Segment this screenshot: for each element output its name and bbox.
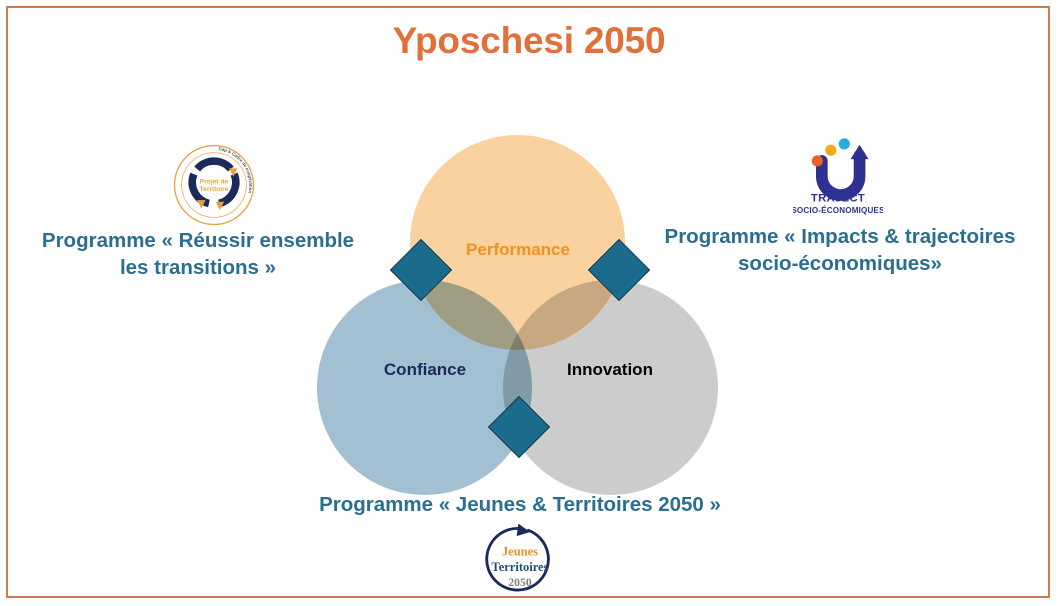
jeunes-territoires-2050-logo: Jeunes Territoires 2050 Jeunes Territoir… [478,522,562,602]
venn-circle-confiance [317,280,532,495]
programme-label-left: Programme « Réussir ensemble les transit… [8,228,388,281]
svg-text:2050: 2050 [508,576,531,589]
venn-circle-innovation [503,280,718,495]
programme-label-right: Programme « Impacts & trajectoires socio… [628,224,1052,277]
programme-label-bottom: Programme « Jeunes & Territoires 2050 » [240,492,800,519]
svg-text:Projet de: Projet de [200,178,229,185]
programme-left-line1: Programme « Réussir ensemble [8,228,388,255]
trajectoires-logo-icon: TRAJECT SOCIO-ÉCONOMIQUES [793,134,883,222]
svg-text:SOCIO-ÉCONOMIQUES: SOCIO-ÉCONOMIQUES [793,206,883,215]
page-title: Yposchesi 2050 [0,20,1058,62]
venn-label-confiance: Confiance [325,360,525,380]
svg-text:TRAJECT: TRAJECT [811,192,865,204]
svg-text:Territoire: Territoire [200,186,229,193]
slide-canvas: Yposchesi 2050 Performance Confiance Inn… [0,0,1058,606]
trajectoires-socio-economiques-logo: TRAJECT SOCIO-ÉCONOMIQUES TRAJECTOIRES S… [793,134,883,222]
programme-bottom-line1: Programme « Jeunes & Territoires 2050 » [240,492,800,519]
venn-diagram: Performance Confiance Innovation [305,135,725,465]
jeunes-territoires-logo-icon: Jeunes Territoires 2050 [478,522,562,602]
svg-text:Jeunes: Jeunes [502,544,538,558]
programme-right-line2: socio-économiques» [628,251,1052,278]
programme-right-line1: Programme « Impacts & trajectoires [628,224,1052,251]
venn-label-performance: Performance [418,240,618,260]
venn-label-innovation: Innovation [510,360,710,380]
svg-text:Territoires: Territoires [492,560,549,574]
reussir-ensemble-logo: Projet de Territoire Cap & Cadre de coop… [172,143,256,227]
reussir-ensemble-logo-icon: Projet de Territoire Cap & Cadre de coop… [172,143,256,227]
programme-left-line2: les transitions » [8,255,388,282]
